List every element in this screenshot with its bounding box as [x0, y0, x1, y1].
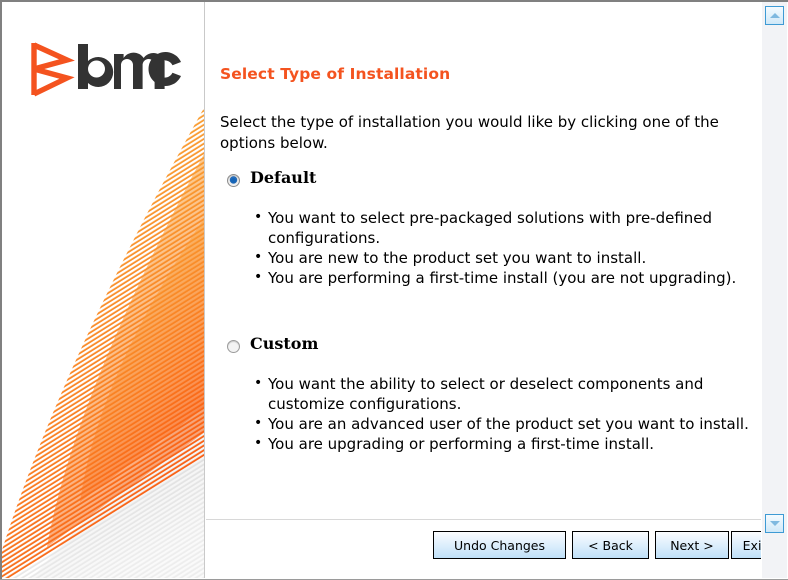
scrollbar-track[interactable] [762, 2, 787, 578]
option-custom[interactable]: Custom You want the ability to select or… [220, 336, 762, 440]
scroll-up-arrow-icon[interactable] [765, 6, 784, 25]
list-item: You are performing a first-time install … [252, 268, 762, 288]
intro-paragraph: Select the type of installation you woul… [220, 112, 762, 154]
content-area: Select Type of Installation Select the t… [2, 2, 762, 578]
chevron-down-icon [770, 521, 780, 526]
undo-changes-button[interactable]: Undo Changes [433, 531, 566, 559]
installer-window: Select Type of Installation Select the t… [0, 0, 788, 580]
button-bar: Undo Changes < Back Next > Exit [206, 531, 762, 565]
banner-divider [204, 2, 205, 578]
option-default[interactable]: Default You want to select pre-packaged … [220, 170, 762, 274]
main-pane: Select Type of Installation Select the t… [206, 2, 762, 578]
option-default-header[interactable]: Default [220, 170, 762, 194]
exit-button[interactable]: Exit [731, 531, 762, 559]
option-custom-bullets: You want the ability to select or desele… [252, 374, 762, 454]
option-custom-header[interactable]: Custom [220, 336, 762, 360]
scroll-down-arrow-icon[interactable] [765, 514, 784, 533]
list-item: You want to select pre-packaged solution… [252, 208, 762, 248]
radio-default[interactable] [227, 174, 240, 187]
option-default-bullets: You want to select pre-packaged solution… [252, 208, 762, 288]
list-item: You are upgrading or performing a first-… [252, 434, 762, 454]
back-button[interactable]: < Back [572, 531, 649, 559]
radio-custom[interactable] [227, 340, 240, 353]
bmc-logo [26, 38, 182, 100]
option-custom-label: Custom [250, 334, 318, 353]
list-item: You are new to the product set you want … [252, 248, 762, 268]
page-title: Select Type of Installation [220, 65, 450, 83]
vertical-scrollbar[interactable] [761, 2, 787, 578]
chevron-up-icon [770, 13, 780, 18]
option-default-label: Default [250, 168, 316, 187]
next-button[interactable]: Next > [655, 531, 729, 559]
list-item: You are an advanced user of the product … [252, 414, 762, 434]
list-item: You want the ability to select or desele… [252, 374, 762, 414]
footer-separator [206, 519, 762, 520]
banner-panel [2, 2, 205, 578]
